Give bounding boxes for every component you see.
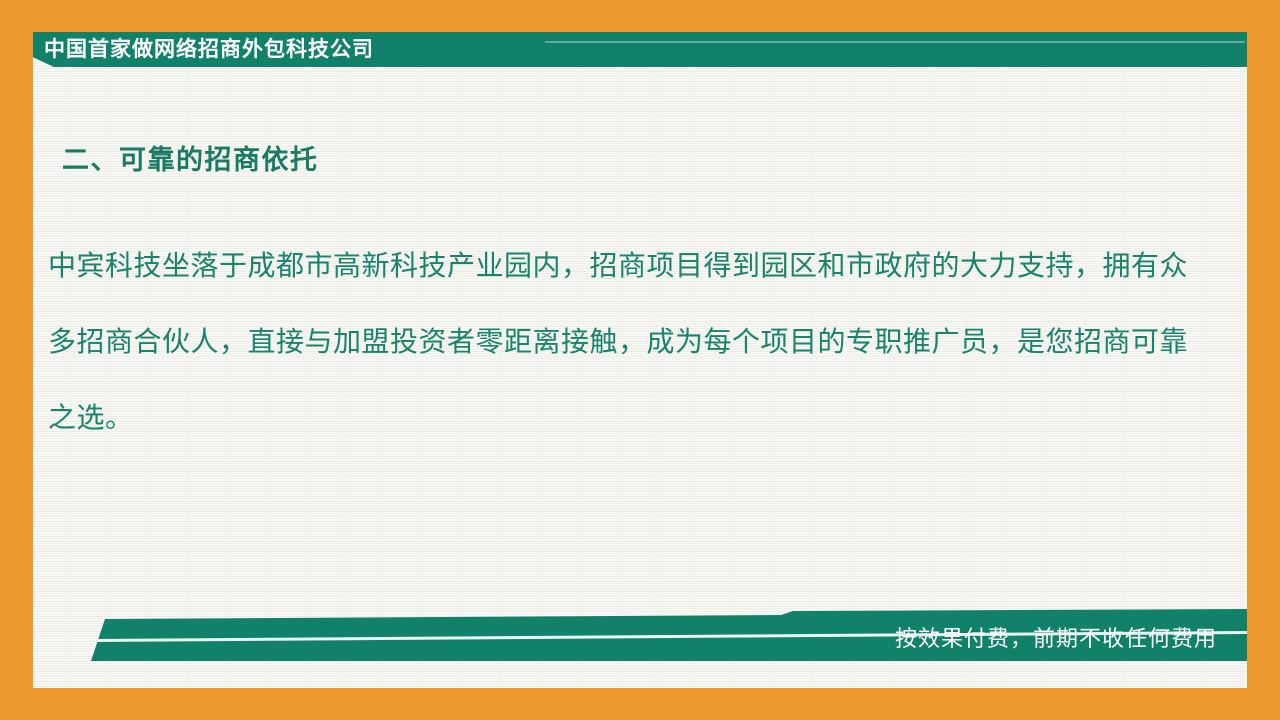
header-title: 中国首家做网络招商外包科技公司: [44, 33, 374, 66]
header-hairline-decoration: [545, 41, 1245, 43]
section-heading: 二、可靠的招商依托: [62, 138, 319, 177]
footer-slogan: 按效果付费，前期不收任何费用: [895, 621, 1217, 653]
body-paragraph: 中宾科技坐落于成都市高新科技产业园内，招商项目得到园区和市政府的大力支持，拥有众…: [48, 228, 1188, 456]
slide-root: 中国首家做网络招商外包科技公司 二、可靠的招商依托 中宾科技坐落于成都市高新科技…: [0, 0, 1280, 720]
